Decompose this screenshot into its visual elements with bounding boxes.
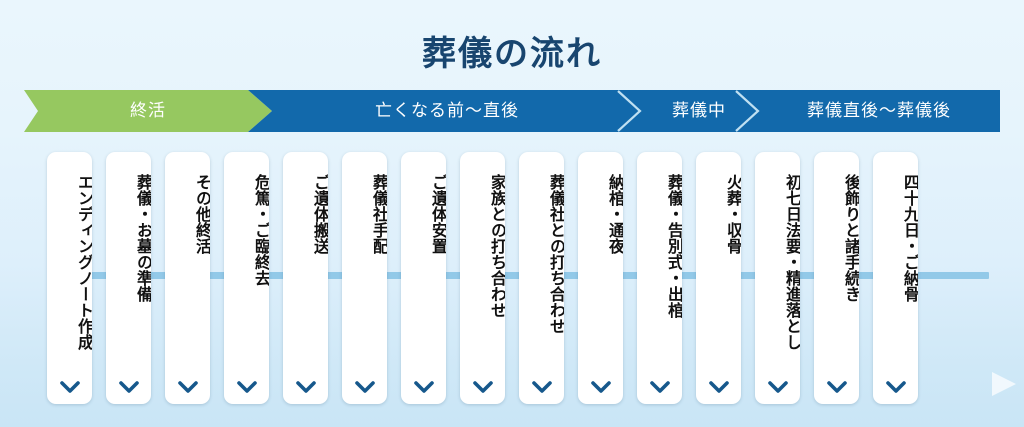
chevron-down-icon[interactable] [165, 370, 210, 404]
step-card-label: その他終活 [165, 152, 210, 370]
step-card-label: 葬儀社手配 [342, 152, 387, 370]
chevron-down-icon[interactable] [342, 370, 387, 404]
step-card-10[interactable]: 納棺・通夜 [578, 152, 623, 404]
arrow-right-icon [992, 368, 1018, 400]
step-card-label: 危篤・ご臨終去 [224, 152, 269, 370]
step-card-12[interactable]: 火葬・収骨 [696, 152, 741, 404]
step-card-1[interactable]: エンディングノート作成 [47, 152, 92, 404]
step-card-label: ご遺体搬送 [283, 152, 328, 370]
step-card-5[interactable]: ご遺体搬送 [283, 152, 328, 404]
step-card-13[interactable]: 初七日法要・精進落とし [755, 152, 800, 404]
chevron-down-icon[interactable] [401, 370, 446, 404]
step-card-7[interactable]: ご遺体安置 [401, 152, 446, 404]
chevron-down-icon[interactable] [460, 370, 505, 404]
step-card-6[interactable]: 葬儀社手配 [342, 152, 387, 404]
step-card-label: 四十九日・ご納骨 [873, 152, 918, 370]
phase-banner: 終活 亡くなる前〜直後 葬儀中 葬儀直後〜葬儀後 [24, 90, 1000, 132]
step-card-list: エンディングノート作成 葬儀・お墓の準備 その他終活 危篤・ご臨終去 ご遺体搬送… [47, 152, 999, 404]
step-card-4[interactable]: 危篤・ご臨終去 [224, 152, 269, 404]
step-card-label: 火葬・収骨 [696, 152, 741, 370]
step-card-label: 葬儀社との打ち合わせ [519, 152, 564, 370]
step-card-label: 葬儀・告別式・出棺 [637, 152, 682, 370]
phase-shape-shukatsu [24, 90, 272, 132]
step-card-label: エンディングノート作成 [47, 152, 92, 370]
step-card-8[interactable]: 家族との打ち合わせ [460, 152, 505, 404]
chevron-down-icon[interactable] [578, 370, 623, 404]
chevron-down-icon[interactable] [519, 370, 564, 404]
step-card-label: 納棺・通夜 [578, 152, 623, 370]
chevron-down-icon[interactable] [106, 370, 151, 404]
chevron-down-icon[interactable] [637, 370, 682, 404]
chevron-down-icon[interactable] [47, 370, 92, 404]
chevron-down-icon[interactable] [224, 370, 269, 404]
step-card-2[interactable]: 葬儀・お墓の準備 [106, 152, 151, 404]
chevron-down-icon[interactable] [873, 370, 918, 404]
step-card-3[interactable]: その他終活 [165, 152, 210, 404]
step-card-15[interactable]: 四十九日・ご納骨 [873, 152, 918, 404]
chevron-down-icon[interactable] [755, 370, 800, 404]
step-card-label: ご遺体安置 [401, 152, 446, 370]
step-card-14[interactable]: 後飾りと諸手続き [814, 152, 859, 404]
step-card-label: 家族との打ち合わせ [460, 152, 505, 370]
chevron-down-icon[interactable] [283, 370, 328, 404]
step-card-label: 初七日法要・精進落とし [755, 152, 800, 370]
page-title: 葬儀の流れ [0, 26, 1024, 75]
step-card-11[interactable]: 葬儀・告別式・出棺 [637, 152, 682, 404]
step-card-label: 葬儀・お墓の準備 [106, 152, 151, 370]
step-card-label: 後飾りと諸手続き [814, 152, 859, 370]
chevron-down-icon[interactable] [814, 370, 859, 404]
step-card-9[interactable]: 葬儀社との打ち合わせ [519, 152, 564, 404]
chevron-down-icon[interactable] [696, 370, 741, 404]
